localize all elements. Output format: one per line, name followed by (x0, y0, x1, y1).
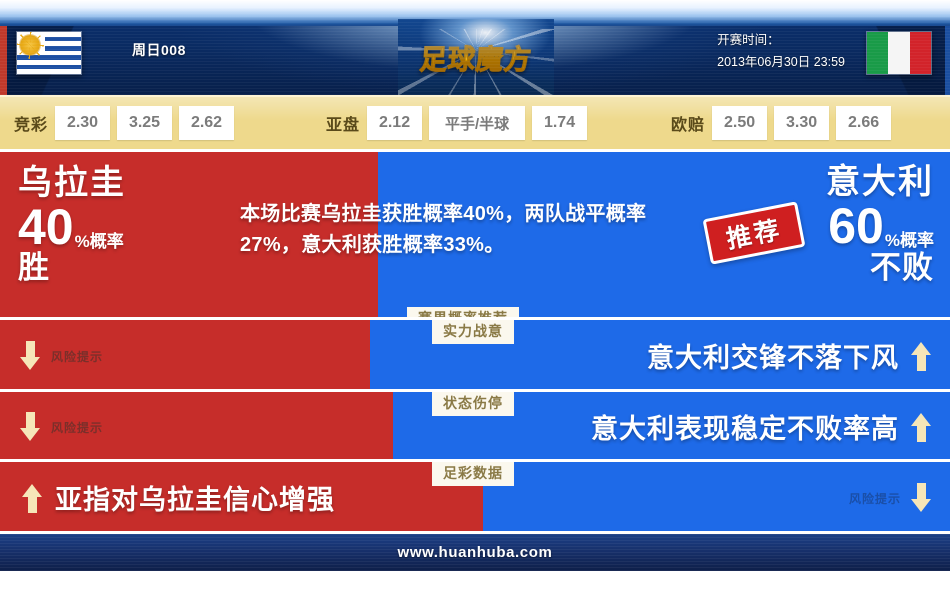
recommend-stamp-inner: 推荐 (702, 201, 805, 264)
analysis-row-form-injury: 风险提示 状态伤停 意大利表现稳定不败率高 (0, 389, 950, 459)
arrow-down-icon (20, 412, 41, 442)
recommend-stamp-text: 推荐 (723, 210, 785, 256)
away-team-block: 意大利 60%概率 不败 (826, 164, 934, 285)
kickoff-value: 2013年06月30日 23:59 (717, 52, 845, 74)
analysis-row-strength: 风险提示 实力战意 意大利交锋不落下风 (0, 317, 950, 389)
odds-label-jingcai: 竞彩 (14, 111, 48, 135)
infographic-page: 周日008 足球魔方 开赛时间： 2013年06月30日 23:59 竞彩 2.… (0, 0, 950, 594)
odds-cell-european-draw[interactable]: 3.30 (774, 106, 829, 140)
header-left-accent (0, 26, 7, 95)
probability-panel: 乌拉圭 40%概率 胜 本场比赛乌拉圭获胜概率40%，两队战平概率27%，意大利… (0, 149, 950, 317)
odds-cell-european-away[interactable]: 2.66 (836, 106, 891, 140)
row1-red-note-label: 风险提示 (51, 348, 103, 365)
probability-summary-text: 本场比赛乌拉圭获胜概率40%，两队战平概率27%，意大利获胜概率33%。 (240, 199, 680, 261)
logo-text: 足球魔方 (419, 38, 534, 77)
badge-result-probability: 赛果概率推荐 (407, 307, 519, 317)
home-team-block: 乌拉圭 40%概率 胜 (18, 166, 126, 284)
arrow-up-icon (22, 483, 43, 513)
row2-blue-headline-wrap: 意大利表现稳定不败率高 (591, 407, 932, 446)
match-header: 周日008 足球魔方 开赛时间： 2013年06月30日 23:59 (0, 0, 950, 95)
arrow-up-icon (911, 341, 932, 371)
uruguay-canton (17, 32, 45, 55)
odds-cell-asian-handicap[interactable]: 平手/半球 (429, 106, 525, 140)
italy-stripes (867, 32, 931, 74)
site-logo[interactable]: 足球魔方 (398, 19, 554, 95)
arrow-down-icon (911, 483, 932, 513)
header-right-accent (945, 26, 950, 95)
row3-red-headline-wrap: 亚指对乌拉圭信心增强 (22, 478, 335, 517)
badge-strength-intent: 实力战意 (432, 320, 514, 344)
italy-flag-icon (866, 31, 932, 75)
arrow-up-icon (911, 412, 932, 442)
badge-form-injury: 状态伤停 (432, 392, 514, 416)
odds-cell-jingcai-home[interactable]: 2.30 (55, 106, 110, 140)
recommend-stamp: 推荐 (702, 201, 805, 264)
footer-site-url[interactable]: www.huanhuba.com (398, 544, 553, 561)
kickoff-block: 开赛时间： 2013年06月30日 23:59 (717, 30, 845, 74)
row3-blue-note-label: 风险提示 (849, 490, 901, 507)
home-team-verdict: 胜 (18, 252, 126, 285)
row2-blue-headline: 意大利表现稳定不败率高 (591, 407, 899, 446)
row3-red-headline: 亚指对乌拉圭信心增强 (55, 478, 335, 517)
row2-red-note: 风险提示 (20, 412, 103, 442)
row1-blue-headline: 意大利交锋不落下风 (647, 336, 899, 375)
odds-cell-jingcai-away[interactable]: 2.62 (179, 106, 234, 140)
uruguay-stripes (17, 32, 81, 74)
odds-group-asian: 亚盘 2.12 平手/半球 1.74 (326, 106, 587, 140)
badge-betting-data: 足彩数据 (432, 462, 514, 486)
odds-cell-asian-home[interactable]: 2.12 (367, 106, 422, 140)
away-team-percent: 60 (828, 201, 884, 251)
row2-red-note-label: 风险提示 (51, 419, 103, 436)
home-team-percent-suffix: %概率 (75, 227, 124, 252)
away-team-percent-suffix: %概率 (885, 226, 934, 251)
row3-blue-note: 风险提示 (849, 483, 932, 513)
site-footer: www.huanhuba.com (0, 531, 950, 571)
row1-red-note: 风险提示 (20, 341, 103, 371)
analysis-row-betting-data: 亚指对乌拉圭信心增强 足彩数据 风险提示 (0, 459, 950, 531)
arrow-down-icon (20, 341, 41, 371)
bottom-strip (0, 571, 950, 582)
sun-of-may-icon (20, 35, 40, 55)
odds-label-european: 欧赔 (671, 111, 705, 135)
odds-cell-jingcai-draw[interactable]: 3.25 (117, 106, 172, 140)
home-team-name: 乌拉圭 (18, 166, 126, 202)
match-round-label: 周日008 (132, 40, 186, 60)
uruguay-flag-icon (16, 31, 82, 75)
odds-label-asian: 亚盘 (326, 111, 360, 135)
odds-bar: 竞彩 2.30 3.25 2.62 亚盘 2.12 平手/半球 1.74 欧赔 … (0, 95, 950, 149)
away-team-name: 意大利 (826, 164, 934, 201)
home-team-percent: 40 (18, 202, 74, 252)
row1-blue-headline-wrap: 意大利交锋不落下风 (647, 336, 932, 375)
kickoff-label: 开赛时间： (717, 30, 845, 52)
odds-cell-european-home[interactable]: 2.50 (712, 106, 767, 140)
odds-group-jingcai: 竞彩 2.30 3.25 2.62 (14, 106, 234, 140)
away-team-verdict: 不败 (826, 251, 934, 285)
odds-group-european: 欧赔 2.50 3.30 2.66 (671, 106, 891, 140)
odds-cell-asian-away[interactable]: 1.74 (532, 106, 587, 140)
